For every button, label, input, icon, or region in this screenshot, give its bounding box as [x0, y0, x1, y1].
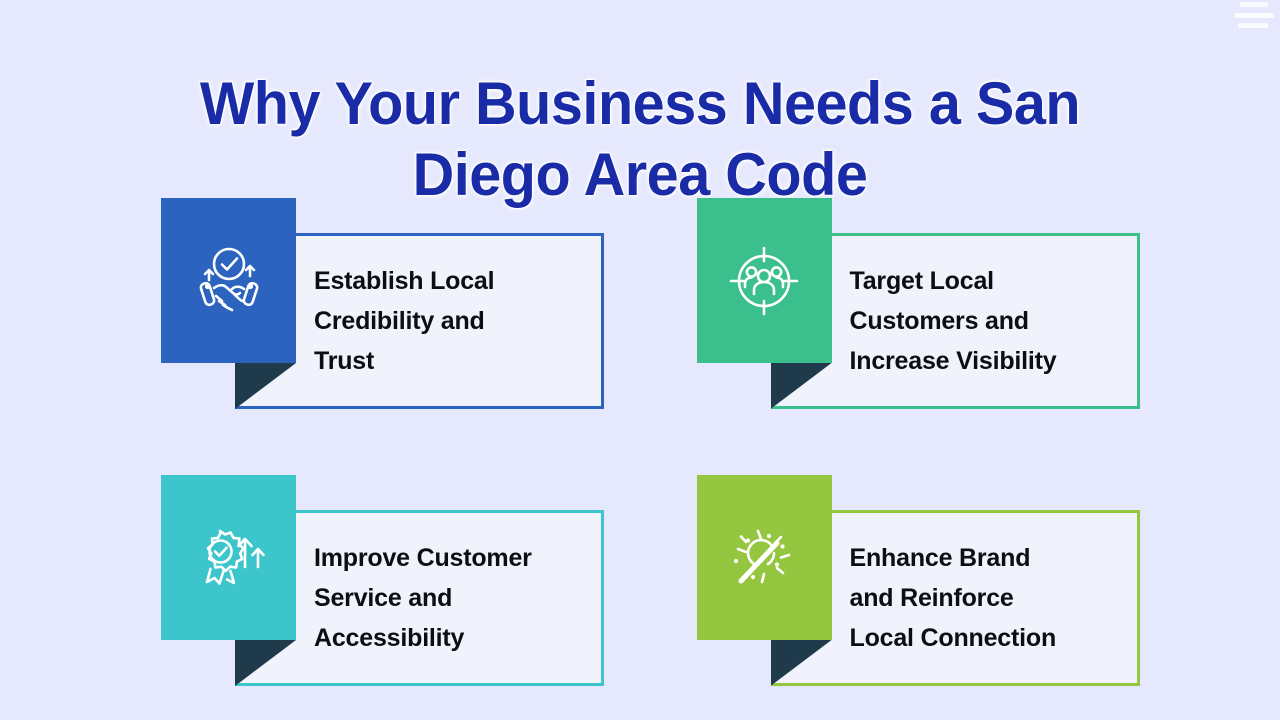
hamburger-bar-3 — [1238, 23, 1268, 28]
card-row-bottom: Improve Customer Service and Accessibili… — [161, 475, 1119, 686]
benefit-card-enhance-brand[interactable]: Enhance Brand and Reinforce Local Connec… — [697, 475, 1120, 686]
benefit-card-establish-local-credibility[interactable]: Establish Local Credibility and Trust — [161, 198, 584, 409]
card-icon-panel — [161, 198, 296, 363]
hamburger-bar-2 — [1234, 13, 1274, 18]
benefit-card-grid: Establish Local Credibility and Trust — [161, 198, 1119, 686]
card-icon-panel — [697, 475, 832, 640]
page-title: Why Your Business Needs a San Diego Area… — [26, 68, 1255, 210]
handshake-check-icon — [190, 242, 268, 320]
card-icon-panel — [161, 475, 296, 640]
magic-wand-sparkle-icon — [725, 519, 803, 597]
benefit-card-target-local-customers[interactable]: Target Local Customers and Increase Visi… — [697, 198, 1120, 409]
hamburger-menu-icon[interactable] — [1234, 2, 1274, 28]
benefit-card-improve-customer-service[interactable]: Improve Customer Service and Accessibili… — [161, 475, 584, 686]
card-icon-panel — [697, 198, 832, 363]
card-row-top: Establish Local Credibility and Trust — [161, 198, 1119, 409]
quality-badge-growth-icon — [190, 519, 268, 597]
target-audience-icon — [725, 242, 803, 320]
hamburger-bar-1 — [1240, 2, 1268, 7]
